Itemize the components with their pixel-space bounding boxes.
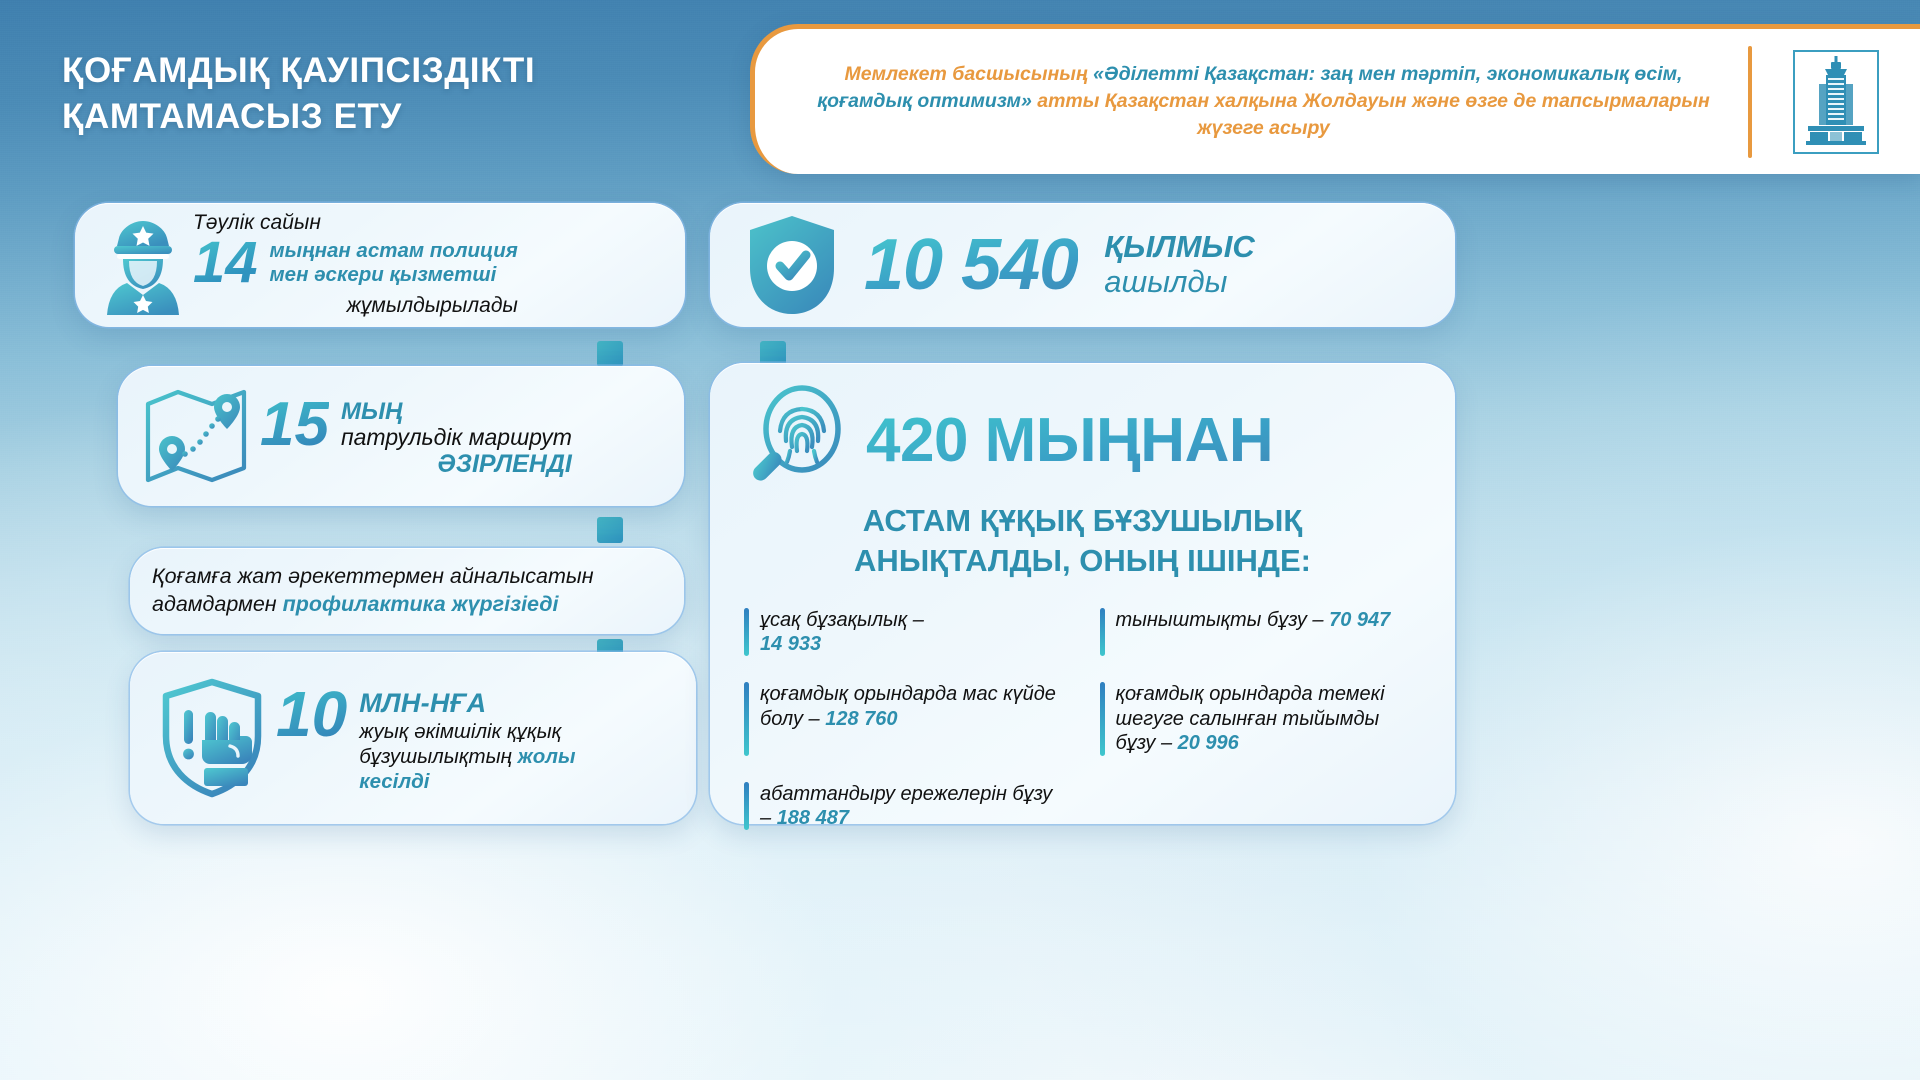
shield-hand-alert-icon bbox=[154, 676, 270, 800]
crimes-solved-number: 10 540 bbox=[864, 229, 1078, 301]
stat-value: 128 760 bbox=[825, 708, 897, 730]
card-administrative-offences-text: 10 МЛН-НҒА жуық әкімшілік құқық бұзушылы… bbox=[270, 682, 576, 794]
card-daily-mobilization-text: Тәулік сайын 14 мыңнан астам полиция мен… bbox=[189, 210, 518, 319]
card1-tail: жұмылдырылады bbox=[193, 293, 518, 319]
presidential-address-banner: Мемлекет басшысының «Әділетті Қазақстан:… bbox=[750, 24, 1920, 174]
card-administrative-offences: 10 МЛН-НҒА жуық әкімшілік құқық бұзушылы… bbox=[130, 652, 696, 824]
card4-body-line2-highlight: жолы bbox=[518, 745, 576, 768]
page-title-line1: ҚОҒАМДЫҚ ҚАУІПСІЗДІКТІ bbox=[62, 51, 535, 90]
card-offences-detected: 420 МЫҢНАН АСТАМ ҚҰҚЫҚ БҰЗУШЫЛЫҚ АНЫҚТАЛ… bbox=[710, 363, 1455, 824]
page-title-line2: ҚАМТАМАСЫЗ ЕТУ bbox=[62, 97, 402, 136]
fingerprint-magnifier-icon bbox=[740, 385, 848, 497]
shield-check-icon bbox=[746, 213, 838, 317]
stat-accent-bar bbox=[744, 682, 749, 755]
banner-segment-1: Мемлекет басшысының bbox=[845, 63, 1088, 85]
card4-body-line2-plain: бұзушылықтың bbox=[359, 745, 517, 768]
card3-line2-highlight: профилактика жүргізіеді bbox=[283, 592, 559, 616]
stat-item: тыныштықты бұзу – 70 947 bbox=[1100, 608, 1422, 657]
card-prevention-work: Қоғамға жат әрекеттермен айналысатын ада… bbox=[130, 548, 684, 634]
card-crimes-solved: 10 540 ҚЫЛМЫС ашылды bbox=[710, 203, 1455, 327]
police-officer-icon bbox=[97, 215, 189, 315]
stat-value: 188 487 bbox=[777, 807, 849, 829]
akorda-building-logo bbox=[1793, 50, 1879, 154]
stat-item: ұсақ бұзақылық – 14 933 bbox=[744, 608, 1066, 657]
crimes-solved-label: ҚЫЛМЫС ашылды bbox=[1104, 230, 1255, 299]
card-patrol-routes-text: 15 МЫҢ патрульдік маршрут ӘЗІРЛЕНДІ bbox=[252, 394, 572, 479]
stat-value: 70 947 bbox=[1329, 609, 1390, 631]
banner-logo bbox=[1752, 50, 1920, 154]
card4-unit: МЛН-НҒА bbox=[359, 688, 575, 719]
stat-label: ұсақ бұзақылық – bbox=[760, 609, 924, 631]
map-route-icon bbox=[142, 382, 252, 490]
offences-subtitle-line2: АНЫҚТАЛДЫ, ОНЫҢ ІШІНДЕ: bbox=[736, 541, 1429, 581]
crimes-solved-label-line1: ҚЫЛМЫС bbox=[1104, 230, 1255, 265]
page-title: ҚОҒАМДЫҚ ҚАУІПСІЗДІКТІ ҚАМТАМАСЫЗ ЕТУ bbox=[62, 48, 782, 139]
stat-accent-bar bbox=[1100, 682, 1105, 755]
stat-value: 14 933 bbox=[760, 633, 821, 655]
offences-detected-subtitle: АСТАМ ҚҰҚЫҚ БҰЗУШЫЛЫҚ АНЫҚТАЛДЫ, ОНЫҢ ІШ… bbox=[710, 497, 1455, 582]
stat-value: 20 996 bbox=[1178, 732, 1239, 754]
card1-highlight-line2: мен әскери қызметші bbox=[270, 263, 497, 286]
stat-label: қоғамдық орындарда мас күйде болу – bbox=[760, 683, 1056, 729]
offences-headline-row: 420 МЫҢНАН bbox=[710, 363, 1455, 497]
card1-highlight-line1: мыңнан астам полиция bbox=[270, 239, 518, 262]
stat-item: қоғамдық орындарда мас күйде болу – 128 … bbox=[744, 682, 1066, 755]
card-prevention-work-text: Қоғамға жат әрекеттермен айналысатын ада… bbox=[130, 563, 616, 619]
stat-accent-bar bbox=[1100, 608, 1105, 657]
stat-item: қоғамдық орындарда темекі шегуге салынға… bbox=[1100, 682, 1422, 755]
offences-stats-grid: ұсақ бұзақылық – 14 933 тыныштықты бұзу … bbox=[710, 582, 1455, 831]
card4-body-line3-highlight: кесілді bbox=[359, 770, 429, 793]
card4-body-line1: жуық әкімшілік құқық bbox=[359, 720, 561, 743]
stat-item: абаттандыру ережелерін бұзу – 188 487 bbox=[744, 782, 1066, 831]
banner-text: Мемлекет басшысының «Әділетті Қазақстан:… bbox=[755, 55, 1748, 148]
card3-line1: Қоғамға жат әрекеттермен айналысатын bbox=[152, 564, 594, 588]
card1-number: 14 bbox=[193, 235, 258, 292]
stat-accent-bar bbox=[744, 782, 749, 831]
card-daily-mobilization: Тәулік сайын 14 мыңнан астам полиция мен… bbox=[75, 203, 685, 327]
crimes-solved-label-line2: ашылды bbox=[1104, 265, 1255, 300]
offences-subtitle-line1: АСТАМ ҚҰҚЫҚ БҰЗУШЫЛЫҚ bbox=[736, 501, 1429, 541]
stat-label: қоғамдық орындарда темекі шегуге салынға… bbox=[1116, 683, 1385, 754]
card-patrol-routes: 15 МЫҢ патрульдік маршрут ӘЗІРЛЕНДІ bbox=[118, 366, 684, 506]
stat-accent-bar bbox=[744, 608, 749, 657]
card2-caption: ӘЗІРЛЕНДІ bbox=[341, 450, 572, 479]
stat-label: тыныштықты бұзу – bbox=[1116, 609, 1330, 631]
card2-unit: МЫҢ bbox=[341, 398, 572, 426]
card4-number: 10 bbox=[276, 682, 347, 746]
connector-square-2 bbox=[597, 517, 623, 543]
offences-detected-number: 420 МЫҢНАН bbox=[866, 410, 1273, 472]
card3-line2-plain: адамдармен bbox=[152, 592, 283, 616]
card2-middle: патрульдік маршрут bbox=[341, 424, 572, 451]
banner-segment-3: атты Қазақстан халқына Жолдауын және өзг… bbox=[1037, 90, 1710, 139]
connector-square-1 bbox=[597, 341, 623, 367]
card2-number: 15 bbox=[260, 394, 329, 456]
